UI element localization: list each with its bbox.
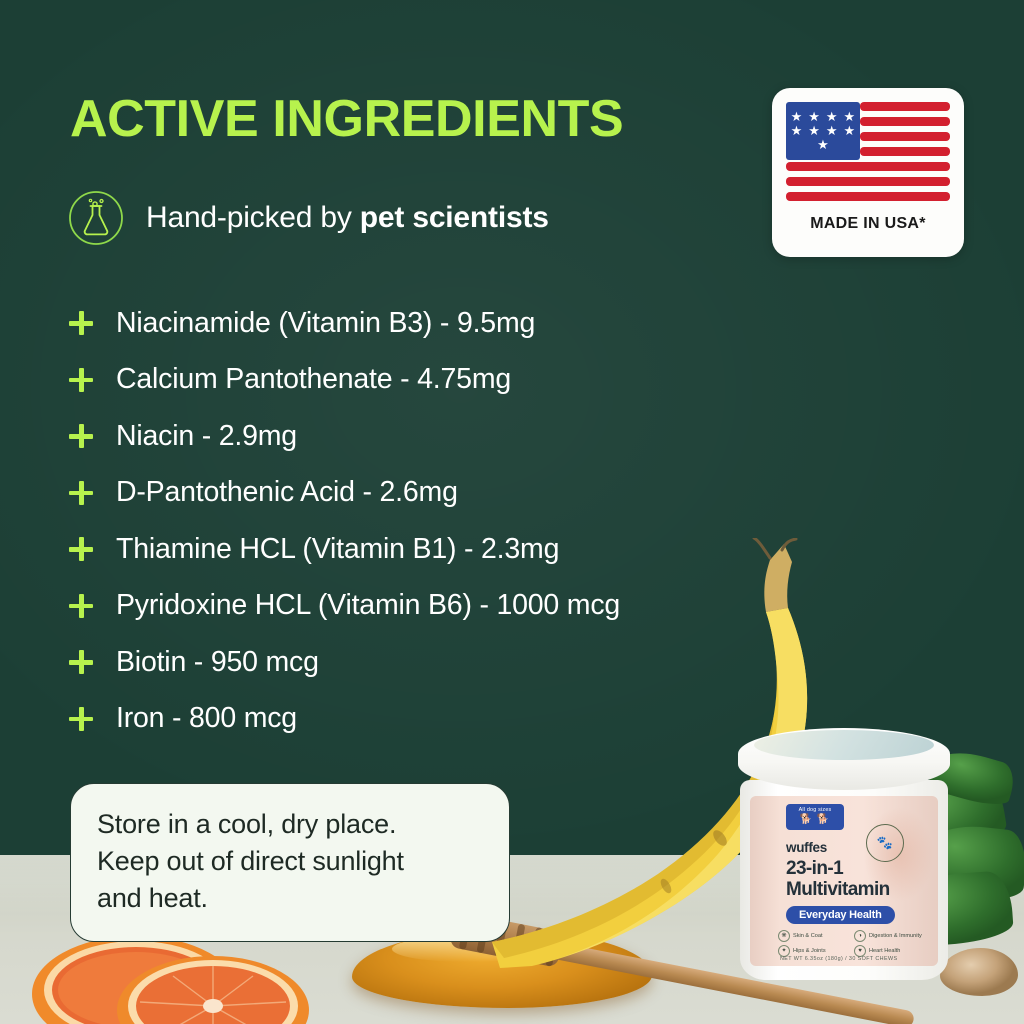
plus-icon <box>68 480 94 506</box>
plus-icon <box>68 536 94 562</box>
benefit-item: ◑ Digestion & Immunity <box>854 930 924 942</box>
benefit-label: Hips & Joints <box>793 948 826 955</box>
product-jar-photo: All dog sizes 🐕 🐕 🐾 wuffes 23-in-1Multiv… <box>738 728 950 984</box>
ingredient-row: D-Pantothenic Acid - 2.6mg <box>68 465 768 522</box>
walnut-photo <box>940 948 1018 996</box>
subtitle-text: Hand-picked by pet scientists <box>146 201 549 235</box>
plus-icon <box>68 649 94 675</box>
ingredient-label: Iron - 800 mcg <box>116 702 297 735</box>
subtitle-bold: pet scientists <box>360 201 549 234</box>
flag-star: ★ <box>808 111 820 123</box>
skin-coat-icon: ❋ <box>778 930 790 942</box>
storage-line-1: Store in a cool, dry place. <box>97 806 483 843</box>
digestion-icon: ◑ <box>854 930 866 942</box>
plus-icon <box>68 423 94 449</box>
flag-star: ★ <box>791 125 803 137</box>
benefits-grid: ❋ Skin & Coat ◑ Digestion & Immunity ✦ H… <box>778 930 930 957</box>
ingredient-label: Niacinamide (Vitamin B3) - 9.5mg <box>116 307 535 340</box>
storage-line-3: and heat. <box>97 880 483 917</box>
net-weight-label: NET WT 6.35oz (180g) / 30 SOFT CHEWS <box>780 956 897 962</box>
all-dog-sizes-badge: All dog sizes 🐕 🐕 <box>786 804 844 830</box>
dog-silhouette-icon: 🐕 🐕 <box>786 815 844 825</box>
veterinarian-approved-seal: 🐾 <box>866 824 904 862</box>
flag-star: ★ <box>791 111 803 123</box>
benefit-label: Digestion & Immunity <box>869 933 922 940</box>
jar-mouth-opening <box>754 730 934 760</box>
flag-star: ★ <box>826 111 838 123</box>
ingredient-row: Niacin - 2.9mg <box>68 408 768 465</box>
flag-star: ★ <box>844 125 856 137</box>
flag-star: ★ <box>826 125 838 137</box>
ingredient-label: Calcium Pantothenate - 4.75mg <box>116 363 511 396</box>
flag-star: ★ <box>808 125 820 137</box>
ingredient-row: Calcium Pantothenate - 4.75mg <box>68 352 768 409</box>
everyday-health-pill: Everyday Health <box>786 906 895 924</box>
paw-print-icon: 🐾 <box>877 835 893 851</box>
ingredient-row: Niacinamide (Vitamin B3) - 9.5mg <box>68 295 768 352</box>
storage-callout: Store in a cool, dry place. Keep out of … <box>70 783 510 942</box>
subtitle-plain: Hand-picked by <box>146 201 360 234</box>
benefit-label: Skin & Coat <box>793 933 823 940</box>
made-in-usa-label: MADE IN USA* <box>786 215 950 233</box>
subtitle-row: Hand-picked by pet scientists <box>68 190 549 246</box>
benefit-label: Heart Health <box>869 948 900 955</box>
poster-canvas: ACTIVE INGREDIENTS Hand-picked by pet sc… <box>0 0 1024 1024</box>
storage-line-2: Keep out of direct sunlight <box>97 843 483 880</box>
benefit-item: ❋ Skin & Coat <box>778 930 848 942</box>
product-name: 23-in-1Multivitamin <box>786 858 890 900</box>
plus-icon <box>68 706 94 732</box>
usa-flag-icon: ★ ★ ★ ★ ★ ★ ★ ★ ★ <box>786 102 950 206</box>
flag-canton: ★ ★ ★ ★ ★ ★ ★ ★ ★ <box>786 102 860 160</box>
ingredient-label: Niacin - 2.9mg <box>116 420 297 453</box>
ingredient-label: D-Pantothenic Acid - 2.6mg <box>116 476 458 509</box>
all-dog-sizes-label: All dog sizes <box>799 807 832 813</box>
orange-slices-photo <box>28 928 328 1024</box>
flag-star: ★ <box>844 111 856 123</box>
plus-icon <box>68 593 94 619</box>
jar-label: All dog sizes 🐕 🐕 🐾 wuffes 23-in-1Multiv… <box>750 796 938 966</box>
page-title: ACTIVE INGREDIENTS <box>70 93 623 145</box>
ingredient-label: Biotin - 950 mcg <box>116 646 319 679</box>
plus-icon <box>68 310 94 336</box>
made-in-usa-badge: ★ ★ ★ ★ ★ ★ ★ ★ ★ MADE IN USA* <box>772 88 964 257</box>
plus-icon <box>68 367 94 393</box>
flag-star: ★ <box>817 139 829 151</box>
flask-icon <box>68 190 124 246</box>
brand-name: wuffes <box>786 840 827 855</box>
